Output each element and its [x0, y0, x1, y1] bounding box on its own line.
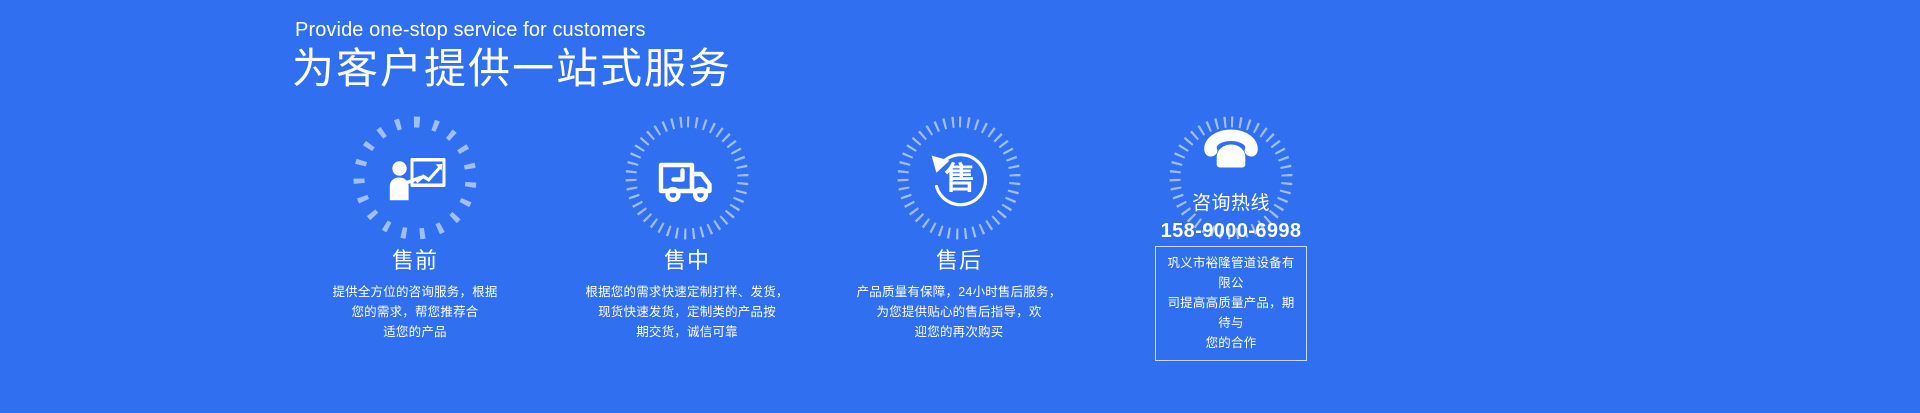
delivery-truck-icon — [651, 142, 723, 214]
insale-desc-line-1: 根据您的需求快速定制打样、发货， — [572, 282, 802, 302]
service-card-hotline[interactable]: 咨询热线 158-9000-6998 巩义市裕隆管道设备有限公 司提高高质量产品… — [1096, 112, 1366, 342]
aftersale-desc-line-1: 产品质量有保障，24小时售后服务， — [844, 282, 1074, 302]
hotline-icon-ring — [1165, 112, 1297, 184]
after-sales-refresh-icon: 售 — [923, 142, 995, 214]
insale-icon-ring — [621, 112, 753, 243]
presale-icon-ring — [349, 112, 481, 243]
presale-desc-line-2: 您的需求，帮您推荐合 — [300, 302, 530, 322]
presale-title: 售前 — [392, 247, 438, 275]
company-info-line-1: 巩义市裕隆管道设备有限公 — [1164, 253, 1298, 293]
service-card-presale[interactable]: 售前 提供全方位的咨询服务，根据 您的需求，帮您推荐合 适您的产品 — [280, 112, 550, 342]
service-card-aftersale[interactable]: 售 售后 产品质量有保障，24小时售后服务， 为您提供贴心的售后指导，欢 迎您的… — [824, 112, 1094, 342]
aftersale-desc-line-3: 迎您的再次购买 — [844, 322, 1074, 342]
service-card-insale[interactable]: 售中 根据您的需求快速定制打样、发货， 现货快速发货，定制类的产品按 期交货，诚… — [552, 112, 822, 342]
banner-subtitle-en: Provide one-stop service for customers — [295, 19, 646, 42]
company-info-box: 巩义市裕隆管道设备有限公 司提高高质量产品，期待与 您的合作 — [1155, 246, 1307, 361]
insale-description: 根据您的需求快速定制打样、发货， 现货快速发货，定制类的产品按 期交货，诚信可靠 — [572, 282, 802, 342]
telephone-icon — [1195, 112, 1267, 184]
presale-desc-line-1: 提供全方位的咨询服务，根据 — [300, 282, 530, 302]
company-info-line-2: 司提高高质量产品，期待与 — [1164, 293, 1298, 333]
aftersale-title: 售后 — [936, 247, 982, 275]
aftersale-glyph-text: 售 — [945, 161, 976, 196]
aftersale-desc-line-2: 为您提供贴心的售后指导，欢 — [844, 302, 1074, 322]
company-info-line-3: 您的合作 — [1164, 333, 1298, 353]
presenter-board-icon — [379, 142, 451, 214]
service-card-list: 售前 提供全方位的咨询服务，根据 您的需求，帮您推荐合 适您的产品 — [280, 112, 1650, 342]
aftersale-description: 产品质量有保障，24小时售后服务， 为您提供贴心的售后指导，欢 迎您的再次购买 — [844, 282, 1074, 342]
presale-description: 提供全方位的咨询服务，根据 您的需求，帮您推荐合 适您的产品 — [300, 282, 530, 342]
insale-desc-line-3: 期交货，诚信可靠 — [572, 322, 802, 342]
aftersale-icon-ring: 售 — [893, 112, 1025, 243]
banner-title-cn: 为客户提供一站式服务 — [292, 45, 732, 93]
insale-title: 售中 — [664, 247, 710, 275]
presale-desc-line-3: 适您的产品 — [300, 322, 530, 342]
insale-desc-line-2: 现货快速发货，定制类的产品按 — [572, 302, 802, 322]
promo-banner: Provide one-stop service for customers 为… — [0, 0, 1920, 413]
